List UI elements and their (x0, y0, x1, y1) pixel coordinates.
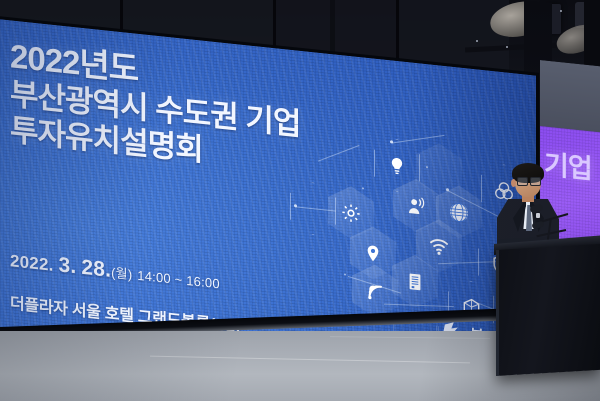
glasses-icon (517, 177, 540, 184)
presenter-lapel-badge (536, 213, 540, 218)
speaker-podium (496, 244, 600, 376)
podium-edge-highlight (496, 250, 499, 376)
side-screen-upper-panel (540, 60, 600, 133)
stage-scene: 기업 (0, 0, 600, 401)
presenter-ear (511, 179, 516, 187)
